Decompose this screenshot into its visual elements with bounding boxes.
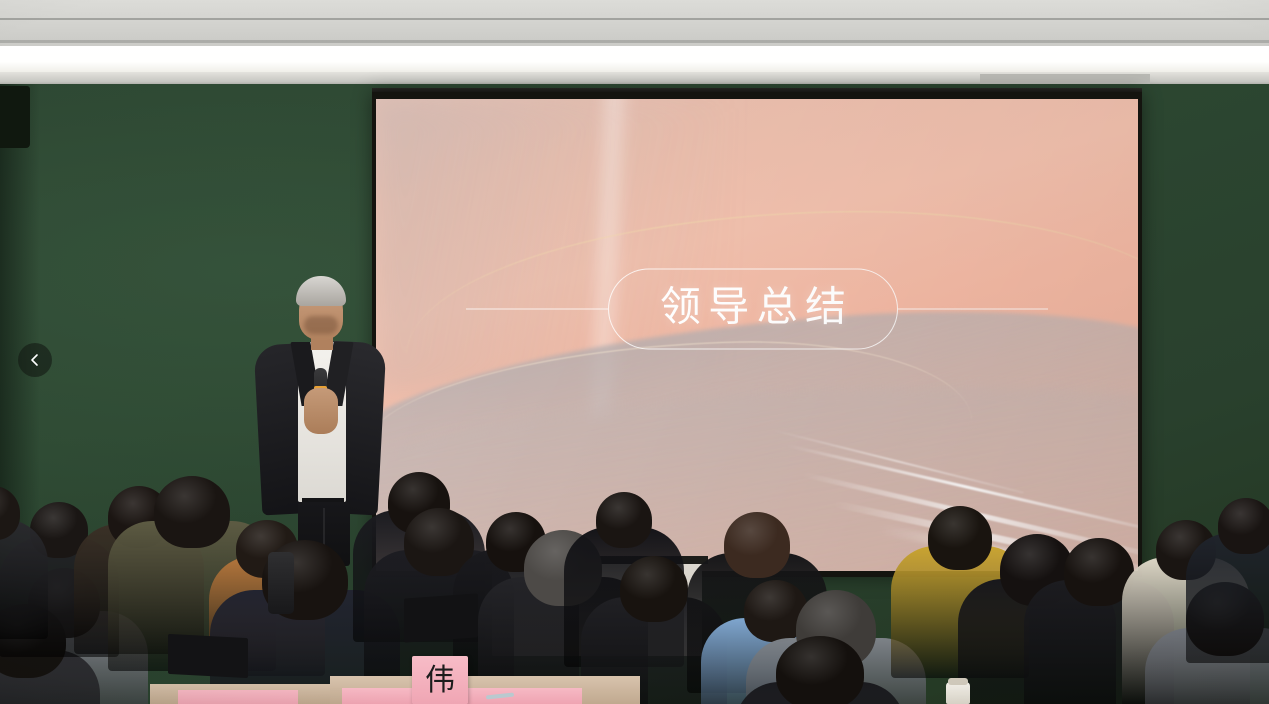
pink-paper [178, 690, 298, 704]
projection-screen: 领导总结 [376, 99, 1138, 571]
ceiling-light-strip [0, 46, 1269, 72]
presenter-face-shadow [304, 316, 338, 334]
previous-image-button[interactable] [18, 343, 52, 377]
slide-title: 领导总结 [608, 269, 899, 350]
attendee-dark-turtleneck-head [596, 492, 652, 548]
presenter-hair [296, 276, 346, 306]
ceiling-seam [0, 18, 1269, 20]
water-bottle-cap [948, 678, 968, 685]
attendee-mustard-jacket-head [928, 506, 992, 570]
attendee-brown-ponytail-head [724, 512, 790, 578]
slide-rule-left [466, 309, 608, 310]
presenter-hands [304, 388, 338, 434]
attendee-suit-right-mid-head [620, 556, 688, 622]
laptop [168, 634, 248, 678]
water-bottle [946, 682, 970, 704]
ceiling [0, 0, 1269, 86]
slide-title-row: 领导总结 [376, 269, 1138, 350]
thermos-cup [268, 552, 294, 614]
chevron-left-icon [28, 353, 42, 367]
wall-speaker-box [0, 86, 30, 148]
photo-viewer-stage: 领导总结 伟 [0, 0, 1269, 704]
attendee-dark-front-low-head [776, 636, 864, 704]
name-placard-text: 伟 [418, 660, 462, 702]
attendee-olive-sweater-head [154, 476, 230, 548]
slide-rule-right [898, 309, 1048, 310]
attendee-partial-top-right-head [1218, 498, 1269, 554]
slide-content: 领导总结 [376, 99, 1138, 571]
ceiling-seam [0, 40, 1269, 43]
laptop [404, 593, 478, 642]
